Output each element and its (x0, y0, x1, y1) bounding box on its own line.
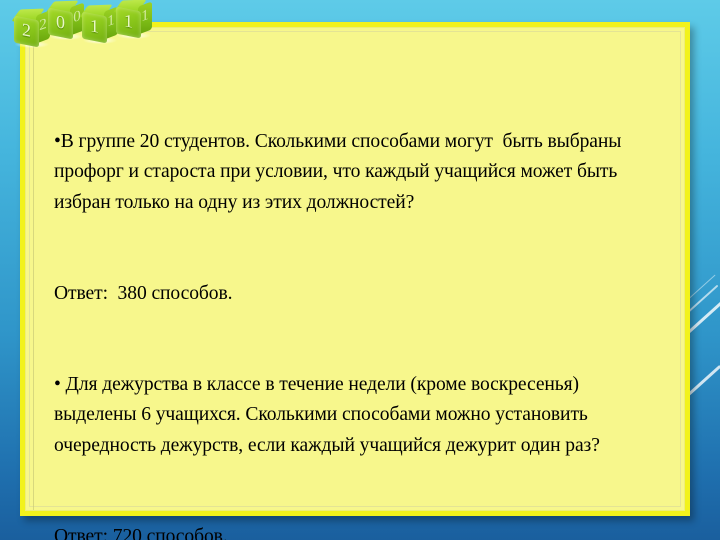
year-cube-2: 0 0 (48, 4, 82, 38)
year-cube-4: 1 1 (116, 3, 150, 37)
slide-body-text: •В группе 20 студентов. Сколькими способ… (36, 34, 676, 540)
problem-1-answer: Ответ: 380 способов. (54, 279, 662, 309)
problem-2-question: • Для дежурства в классе в течение недел… (54, 370, 662, 461)
year-cube-3: 1 1 (82, 8, 116, 42)
year-cube-1: 2 2 (14, 12, 48, 46)
slide-canvas: •В группе 20 студентов. Сколькими способ… (0, 0, 720, 540)
problem-2-answer: Ответ: 720 способов. (54, 522, 662, 540)
content-panel: •В группе 20 студентов. Сколькими способ… (25, 27, 685, 511)
decorative-year-cubes: 2 2 0 0 1 1 1 1 (8, 2, 148, 48)
content-panel-frame: •В группе 20 студентов. Сколькими способ… (20, 22, 690, 516)
problem-1-question: •В группе 20 студентов. Сколькими способ… (54, 127, 662, 218)
